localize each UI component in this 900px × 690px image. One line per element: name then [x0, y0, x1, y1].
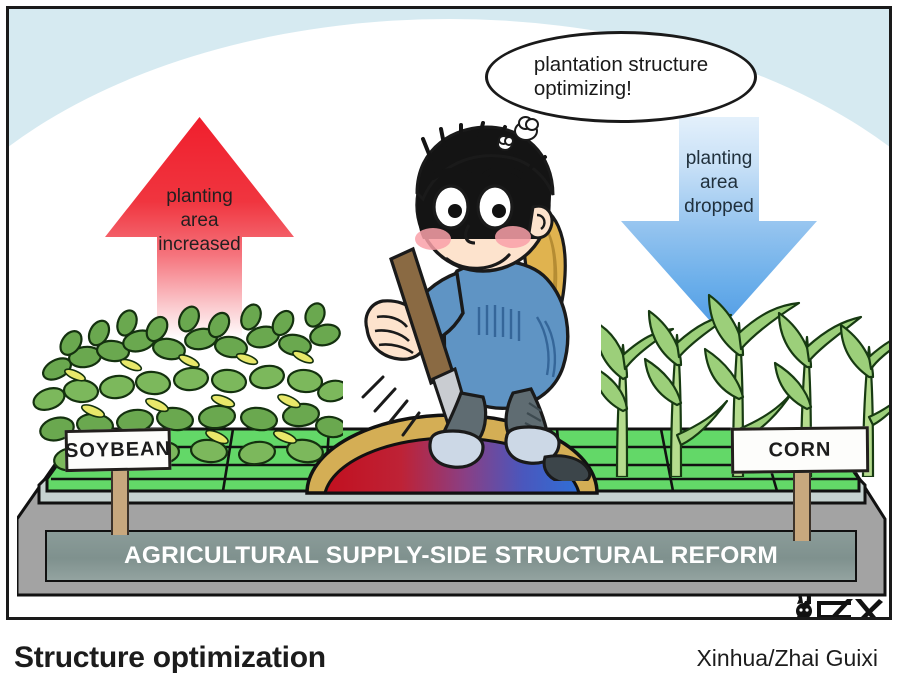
reform-banner: AGRICULTURAL SUPPLY-SIDE STRUCTURAL REFO… [45, 530, 857, 582]
sign-soybean-label: SOYBEAN [65, 437, 171, 462]
arrow-down-label: planting area dropped [617, 147, 821, 218]
cheek-right-icon [495, 226, 531, 248]
caption-credit: Xinhua/Zhai Guixi [696, 645, 878, 672]
ear-icon [529, 206, 552, 238]
shoe-icon [544, 456, 590, 481]
caption-title: Structure optimization [14, 641, 326, 675]
arrow-up-label: planting area increased [101, 185, 298, 256]
cartoon-illustration-frame: planting area increased planting area dr… [6, 6, 892, 620]
thought-puff-large-icon [514, 121, 538, 141]
trouser-cuff-left-icon [430, 431, 483, 467]
thought-bubble-text: plantation structure optimizing! [520, 53, 722, 101]
sign-post-icon [793, 467, 811, 541]
thought-puff-small-icon [497, 137, 513, 151]
sign-board: SOYBEAN [65, 428, 172, 472]
sign-post-icon [111, 465, 129, 535]
reform-banner-text: AGRICULTURAL SUPPLY-SIDE STRUCTURAL REFO… [124, 542, 778, 570]
artist-signature-stamp [791, 595, 883, 620]
sign-soybean: SOYBEAN [65, 429, 171, 471]
sign-board: CORN [731, 426, 869, 473]
sign-corn-label: CORN [768, 438, 831, 462]
jacket-icon [444, 261, 567, 408]
sign-corn: CORN [731, 427, 869, 473]
caption-row: Structure optimization Xinhua/Zhai Guixi [0, 626, 900, 690]
farmer-digging-figure [361, 121, 621, 481]
cartoon-page: planting area increased planting area dr… [0, 0, 900, 690]
thought-bubble: plantation structure optimizing! [485, 31, 757, 123]
cheek-left-icon [415, 228, 451, 250]
